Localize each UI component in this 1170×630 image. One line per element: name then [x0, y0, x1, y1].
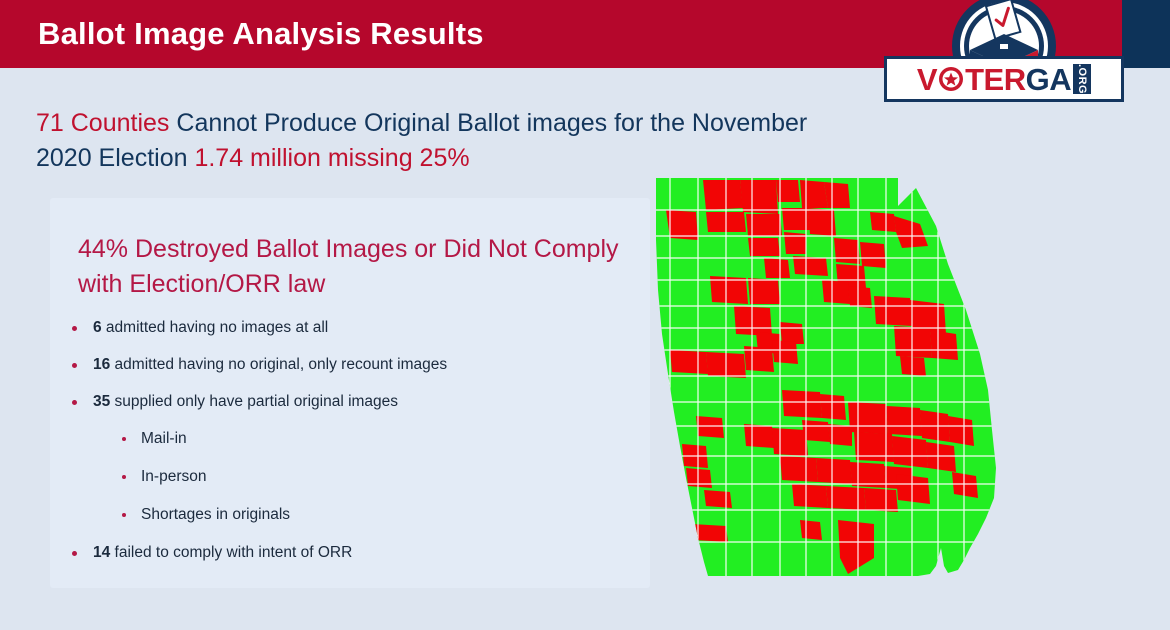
sub-bullet-dot-icon: [122, 513, 126, 517]
bullet-count: 14: [93, 544, 110, 561]
list-item: 16 admitted having no original, only rec…: [72, 355, 642, 375]
bullet-dot-icon: [72, 400, 77, 405]
bullet-dot-icon: [72, 326, 77, 331]
wordmark-org: .ORG: [1073, 64, 1091, 94]
bullet-dot-icon: [72, 363, 77, 368]
sub-bullet-dot-icon: [122, 437, 126, 441]
list-item: 6 admitted having no images at all: [72, 318, 642, 338]
subtitle-missing-stat: 1.74 million missing 25%: [194, 144, 469, 172]
bullet-label: failed to comply with intent of ORR: [110, 544, 352, 561]
sub-list-item: Mail-in: [122, 429, 642, 449]
list-item: 14 failed to comply with intent of ORR: [72, 543, 642, 563]
bullet-text: 14 failed to comply with intent of ORR: [93, 543, 352, 563]
page-title: Ballot Image Analysis Results: [38, 16, 484, 52]
sub-list-item: Shortages in originals: [122, 505, 642, 525]
panel-heading: 44% Destroyed Ballot Images or Did Not C…: [78, 232, 638, 302]
header-navy-corner: [1122, 0, 1170, 68]
bullet-count: 6: [93, 319, 102, 336]
voterga-wordmark: V TER GA .ORG: [884, 56, 1124, 102]
georgia-county-map: [648, 168, 1008, 588]
sub-bullet-dot-icon: [122, 475, 126, 479]
list-item: 35 supplied only have partial original i…: [72, 392, 642, 412]
bullet-count: 16: [93, 356, 110, 373]
bullet-label: supplied only have partial original imag…: [110, 393, 398, 410]
map-counties: [648, 168, 1008, 588]
voterga-logo[interactable]: V TER GA .ORG: [884, 0, 1124, 108]
subtitle: 71 Counties Cannot Produce Original Ball…: [36, 106, 826, 176]
bullet-dot-icon: [72, 551, 77, 556]
bullet-label: admitted having no images at all: [102, 319, 329, 336]
bullet-list: 6 admitted having no images at all 16 ad…: [72, 318, 642, 580]
sub-bullet-label: Shortages in originals: [141, 505, 290, 525]
slide-root: Ballot Image Analysis Results: [0, 0, 1170, 630]
sub-bullet-label: In-person: [141, 467, 206, 487]
subtitle-county-count: 71 Counties: [36, 109, 169, 137]
georgia-map-svg: [648, 168, 1008, 588]
bullet-text: 16 admitted having no original, only rec…: [93, 355, 447, 375]
bullet-text: 6 admitted having no images at all: [93, 318, 328, 338]
bullet-label: admitted having no original, only recoun…: [110, 356, 447, 373]
star-in-o-icon: [938, 66, 964, 92]
sub-bullet-label: Mail-in: [141, 429, 187, 449]
wordmark-v: V: [917, 64, 937, 95]
sub-list-item: In-person: [122, 467, 642, 487]
sub-bullet-list: Mail-in In-person Shortages in originals: [122, 429, 642, 525]
bullet-count: 35: [93, 393, 110, 410]
wordmark-ga: GA: [1026, 64, 1072, 95]
wordmark-voter: V TER: [917, 64, 1026, 95]
bullet-text: 35 supplied only have partial original i…: [93, 392, 398, 412]
wordmark-ter: TER: [965, 64, 1026, 95]
